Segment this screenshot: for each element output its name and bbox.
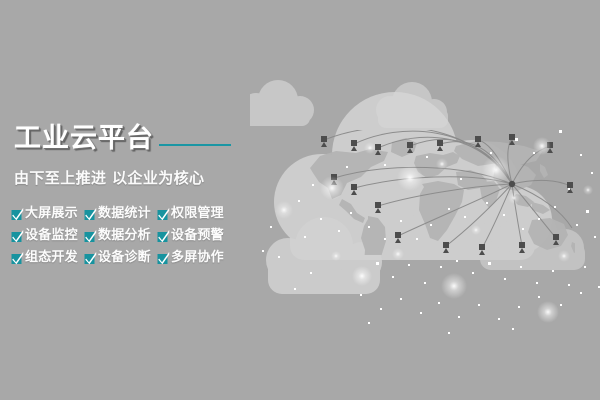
feature-label: 设备诊断 bbox=[98, 251, 151, 265]
feature-item-7[interactable]: 设备诊断 bbox=[84, 247, 157, 269]
feature-label: 权限管理 bbox=[171, 207, 224, 221]
feature-label: 多屏协作 bbox=[171, 251, 224, 265]
cloud-world-network-illustration bbox=[250, 60, 600, 340]
feature-item-2[interactable]: 权限管理 bbox=[157, 203, 224, 225]
check-box-icon bbox=[157, 206, 170, 220]
check-box-icon bbox=[157, 228, 170, 242]
banner-root: 工业云平台 由下至上推进 以企业为核心 大屏展示 bbox=[0, 0, 600, 400]
left-content-panel: 工业云平台 由下至上推进 以企业为核心 大屏展示 bbox=[0, 0, 250, 400]
feature-item-0[interactable]: 大屏展示 bbox=[11, 203, 84, 225]
feature-list: 大屏展示 数据统计 权限管理 bbox=[11, 203, 224, 269]
page-subtitle: 由下至上推进 以企业为核心 bbox=[14, 168, 204, 188]
title-rule-icon bbox=[159, 144, 231, 146]
feature-item-8[interactable]: 多屏协作 bbox=[157, 247, 224, 269]
feature-label: 数据统计 bbox=[98, 207, 151, 221]
feature-label: 大屏展示 bbox=[25, 207, 78, 221]
check-box-icon bbox=[11, 250, 24, 264]
feature-label: 设备监控 bbox=[25, 229, 78, 243]
feature-label: 组态开发 bbox=[25, 251, 78, 265]
feature-label: 数据分析 bbox=[98, 229, 151, 243]
feature-item-5[interactable]: 设备预警 bbox=[157, 225, 224, 247]
feature-item-1[interactable]: 数据统计 bbox=[84, 203, 157, 225]
check-box-icon bbox=[11, 228, 24, 242]
check-box-icon bbox=[84, 250, 97, 264]
feature-label: 设备预警 bbox=[171, 229, 224, 243]
title-row: 工业云平台 bbox=[14, 124, 231, 154]
check-box-icon bbox=[84, 228, 97, 242]
check-box-icon bbox=[157, 250, 170, 264]
page-title: 工业云平台 bbox=[14, 124, 154, 154]
check-box-icon bbox=[84, 206, 97, 220]
check-box-icon bbox=[11, 206, 24, 220]
feature-item-3[interactable]: 设备监控 bbox=[11, 225, 84, 247]
feature-item-6[interactable]: 组态开发 bbox=[11, 247, 84, 269]
feature-item-4[interactable]: 数据分析 bbox=[84, 225, 157, 247]
cloud-top-left bbox=[250, 80, 314, 126]
